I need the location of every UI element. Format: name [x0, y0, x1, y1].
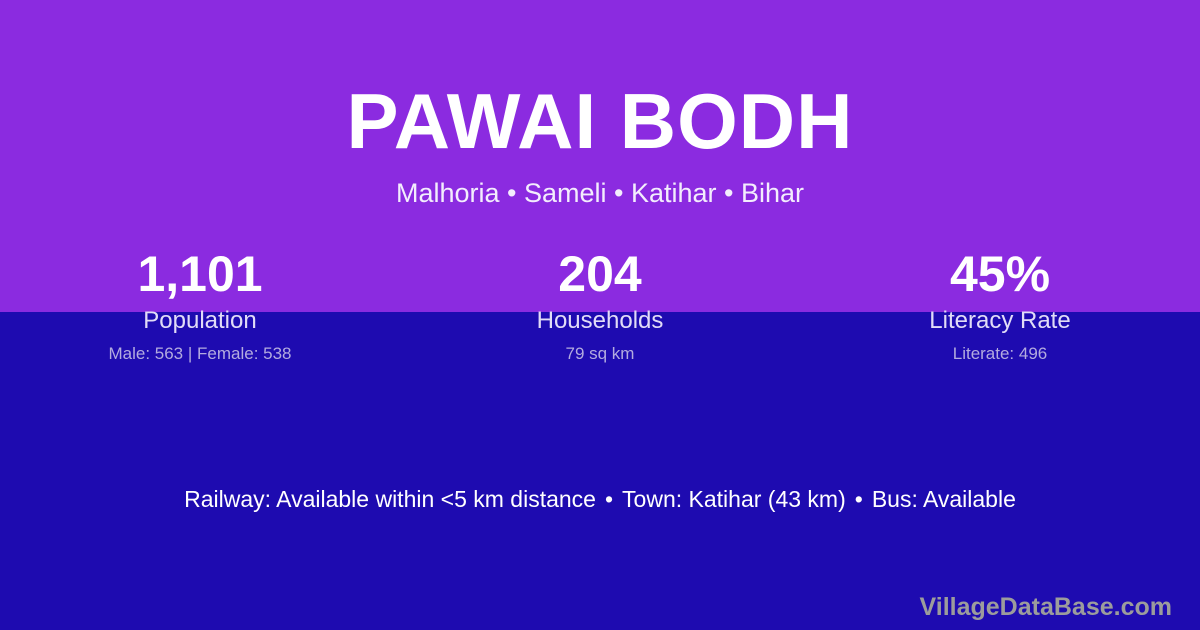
stat-value: 45%: [800, 246, 1200, 302]
amenities-line: Railway: Available within <5 km distance…: [0, 486, 1200, 514]
stat-value: 1,101: [0, 246, 400, 302]
page-title: PAWAI BODH: [0, 82, 1200, 160]
stat-households: 204 Households 79 sq km: [400, 246, 800, 364]
stat-sublabel: 79 sq km: [400, 345, 800, 364]
stat-sublabel: Male: 563 | Female: 538: [0, 345, 400, 364]
amenity-railway: Railway: Available within <5 km distance: [184, 486, 596, 512]
stat-value: 204: [400, 246, 800, 302]
stat-population: 1,101 Population Male: 563 | Female: 538: [0, 246, 400, 364]
amenity-separator: •: [846, 486, 872, 514]
village-info-card: PAWAI BODH Malhoria • Sameli • Katihar •…: [0, 0, 1200, 630]
stat-label: Households: [400, 308, 800, 334]
stat-literacy-rate: 45% Literacy Rate Literate: 496: [800, 246, 1200, 364]
header: PAWAI BODH Malhoria • Sameli • Katihar •…: [0, 0, 1200, 207]
stats-row: 1,101 Population Male: 563 | Female: 538…: [0, 246, 1200, 364]
brand-watermark: VillageDataBase.com: [920, 592, 1172, 622]
amenity-separator: •: [596, 486, 622, 514]
stat-label: Literacy Rate: [800, 308, 1200, 334]
amenity-bus: Bus: Available: [872, 486, 1016, 512]
stat-label: Population: [0, 308, 400, 334]
stat-sublabel: Literate: 496: [800, 345, 1200, 364]
amenity-town: Town: Katihar (43 km): [622, 486, 846, 512]
breadcrumb-location: Malhoria • Sameli • Katihar • Bihar: [0, 180, 1200, 207]
